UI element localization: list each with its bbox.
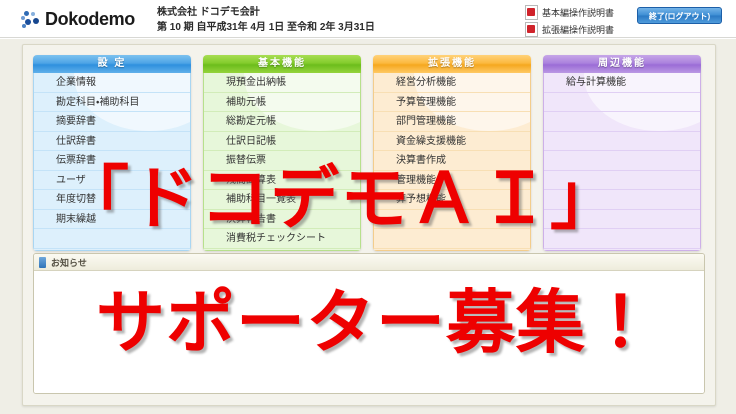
menu-item-subsidiary-ledger[interactable]: 補助元帳 — [204, 93, 360, 113]
manual-links: 基本編操作説明書 拡張編操作説明書 — [525, 5, 614, 39]
menu-item-fiscal-year-switch[interactable]: 年度切替 — [34, 190, 190, 210]
panel-basic-functions-body: 現預金出納帳 補助元帳 総勘定元帳 仕訳日記帳 振替伝票 残高試算表 補助科目一… — [203, 73, 361, 251]
menu-item-general-ledger[interactable]: 総勘定元帳 — [204, 112, 360, 132]
notice-panel-body — [34, 271, 704, 393]
menu-item-transfer-slip[interactable]: 振替伝票 — [204, 151, 360, 171]
company-info: 株式会社 ドコデモ会計 第 10 期 自平成31年 4月 1日 至令和 2年 3… — [157, 6, 375, 34]
menu-item-period-carryover[interactable]: 期末繰越 — [34, 210, 190, 230]
menu-item-settlement-creation[interactable]: 決算書作成 — [374, 151, 530, 171]
manual-link-basic[interactable]: 基本編操作説明書 — [525, 5, 614, 20]
panel-peripheral-functions-title: 周辺機能 — [543, 55, 701, 73]
panel-extended-functions-body: 経営分析機能 予算管理機能 部門管理機能 資金繰支援機能 決算書作成 管理機能 … — [373, 73, 531, 251]
menu-item-cash-book[interactable]: 現預金出納帳 — [204, 73, 360, 93]
notice-marker-icon — [39, 257, 46, 268]
main-stage: 設 定 企業情報 勘定科目・補助科目 摘要辞書 仕訳辞書 伝票辞書 ユーザ 年度… — [0, 38, 736, 414]
notice-panel-header: お知らせ — [34, 254, 704, 271]
menu-item-journal-dictionary[interactable]: 仕訳辞書 — [34, 132, 190, 152]
panel-extended-functions: 拡張機能 経営分析機能 予算管理機能 部門管理機能 資金繰支援機能 決算書作成 … — [373, 55, 531, 251]
top-header-bar: Dokodemo 株式会社 ドコデモ会計 第 10 期 自平成31年 4月 1日… — [0, 0, 736, 38]
function-panel-group: 設 定 企業情報 勘定科目・補助科目 摘要辞書 仕訳辞書 伝票辞書 ユーザ 年度… — [33, 55, 701, 251]
application-window: Dokodemo 株式会社 ドコデモ会計 第 10 期 自平成31年 4月 1日… — [0, 0, 736, 414]
menu-item-slip-dictionary[interactable]: 伝票辞書 — [34, 151, 190, 171]
menu-item-department-management[interactable]: 部門管理機能 — [374, 112, 530, 132]
menu-item-budget-management[interactable]: 予算管理機能 — [374, 93, 530, 113]
menu-row-empty — [544, 132, 700, 152]
menu-row-empty — [374, 210, 530, 230]
company-fiscal-period: 第 10 期 自平成31年 4月 1日 至令和 2年 3月31日 — [157, 21, 375, 34]
menu-item-management-feature[interactable]: 管理機能 — [374, 171, 530, 191]
menu-item-user[interactable]: ユーザ — [34, 171, 190, 191]
menu-row-empty — [544, 210, 700, 230]
manual-link-extended[interactable]: 拡張編操作説明書 — [525, 22, 614, 37]
menu-item-consumption-tax-check[interactable]: 消費税チェックシート — [204, 229, 360, 249]
company-name: 株式会社 ドコデモ会計 — [157, 6, 375, 19]
panel-settings: 設 定 企業情報 勘定科目・補助科目 摘要辞書 仕訳辞書 伝票辞書 ユーザ 年度… — [33, 55, 191, 251]
manual-label-basic: 基本編操作説明書 — [542, 6, 614, 19]
logout-button[interactable]: 終了(ログアウト) — [637, 7, 722, 24]
menu-row-empty — [544, 190, 700, 210]
notice-panel-title: お知らせ — [51, 256, 87, 269]
dots-circle-logo-icon — [20, 10, 40, 30]
pdf-icon — [525, 5, 538, 20]
menu-row-empty — [544, 151, 700, 171]
logo-text: Dokodemo — [45, 9, 135, 30]
panel-peripheral-functions-body: 給与計算機能 — [543, 73, 701, 251]
menu-item-accounts[interactable]: 勘定科目・補助科目 — [34, 93, 190, 113]
content-frame: 設 定 企業情報 勘定科目・補助科目 摘要辞書 仕訳辞書 伝票辞書 ユーザ 年度… — [22, 44, 716, 406]
menu-item-subsidiary-list[interactable]: 補助科目一覧表 — [204, 190, 360, 210]
panel-settings-title: 設 定 — [33, 55, 191, 73]
menu-row-empty — [374, 229, 530, 249]
panel-peripheral-functions: 周辺機能 給与計算機能 — [543, 55, 701, 251]
menu-item-management-analysis[interactable]: 経営分析機能 — [374, 73, 530, 93]
menu-item-payroll-calculation[interactable]: 給与計算機能 — [544, 73, 700, 93]
app-logo: Dokodemo — [20, 9, 135, 30]
menu-row-empty — [544, 112, 700, 132]
menu-row-empty — [544, 229, 700, 249]
menu-item-journal-daybook[interactable]: 仕訳日記帳 — [204, 132, 360, 152]
panel-basic-functions: 基本機能 現預金出納帳 補助元帳 総勘定元帳 仕訳日記帳 振替伝票 残高試算表 … — [203, 55, 361, 251]
menu-row-empty — [34, 229, 190, 249]
menu-item-corporate-info[interactable]: 企業情報 — [34, 73, 190, 93]
menu-item-summary-dictionary[interactable]: 摘要辞書 — [34, 112, 190, 132]
menu-row-empty — [544, 171, 700, 191]
panel-basic-functions-title: 基本機能 — [203, 55, 361, 73]
menu-item-financial-report[interactable]: 決算報告書 — [204, 210, 360, 230]
notice-panel: お知らせ — [33, 253, 705, 394]
menu-item-trial-balance[interactable]: 残高試算表 — [204, 171, 360, 191]
menu-row-empty — [544, 93, 700, 113]
pdf-icon — [525, 22, 538, 37]
panel-settings-body: 企業情報 勘定科目・補助科目 摘要辞書 仕訳辞書 伝票辞書 ユーザ 年度切替 期… — [33, 73, 191, 251]
panel-extended-functions-title: 拡張機能 — [373, 55, 531, 73]
menu-item-forecast-feature[interactable]: 算予想機能 — [374, 190, 530, 210]
manual-label-extended: 拡張編操作説明書 — [542, 23, 614, 36]
menu-item-cashflow-support[interactable]: 資金繰支援機能 — [374, 132, 530, 152]
